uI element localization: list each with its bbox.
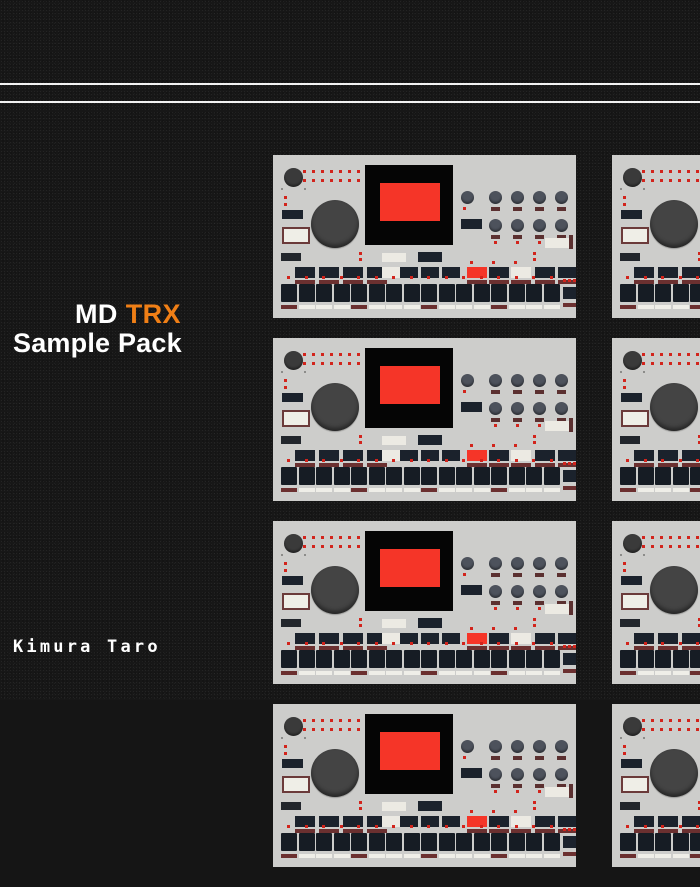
knob-indicator-icon bbox=[535, 207, 544, 211]
pattern-led bbox=[339, 170, 342, 173]
step-button[interactable] bbox=[491, 284, 507, 302]
parameter-knob[interactable] bbox=[489, 219, 502, 232]
step-button[interactable] bbox=[620, 284, 636, 302]
step-button[interactable] bbox=[526, 833, 542, 851]
step-led bbox=[427, 276, 430, 279]
led-segment-display bbox=[281, 253, 301, 261]
function-button[interactable] bbox=[282, 576, 303, 585]
parameter-knob[interactable] bbox=[489, 402, 502, 415]
volume-knob[interactable] bbox=[623, 534, 642, 553]
step-button[interactable] bbox=[334, 650, 350, 668]
function-button[interactable] bbox=[421, 450, 439, 461]
function-button[interactable] bbox=[558, 633, 576, 644]
function-button[interactable] bbox=[563, 470, 576, 482]
lcd-screen bbox=[365, 531, 453, 611]
step-led bbox=[375, 459, 378, 462]
function-button[interactable] bbox=[563, 653, 576, 665]
pattern-led bbox=[642, 362, 645, 365]
function-button[interactable] bbox=[558, 450, 576, 461]
pattern-led bbox=[678, 719, 681, 722]
status-led bbox=[359, 258, 362, 261]
function-button[interactable] bbox=[558, 267, 576, 278]
step-button[interactable] bbox=[386, 284, 402, 302]
function-button[interactable] bbox=[421, 633, 439, 644]
step-button[interactable] bbox=[404, 467, 420, 485]
parameter-knob[interactable] bbox=[533, 740, 546, 753]
function-button[interactable] bbox=[467, 633, 487, 644]
step-label-strip bbox=[439, 854, 455, 858]
drum-machine bbox=[273, 521, 576, 684]
step-label-strip bbox=[439, 671, 455, 675]
step-label-strip bbox=[334, 854, 350, 858]
data-encoder-knob[interactable] bbox=[311, 749, 359, 797]
volume-knob[interactable] bbox=[284, 534, 303, 553]
parameter-knob[interactable] bbox=[511, 585, 524, 598]
step-button[interactable] bbox=[526, 467, 542, 485]
function-button[interactable] bbox=[418, 252, 442, 262]
step-button[interactable] bbox=[369, 833, 385, 851]
function-button[interactable] bbox=[382, 802, 406, 811]
step-button[interactable] bbox=[316, 650, 332, 668]
step-button[interactable] bbox=[544, 650, 560, 668]
pattern-led bbox=[357, 179, 360, 182]
function-button[interactable] bbox=[382, 619, 406, 628]
step-button[interactable] bbox=[404, 650, 420, 668]
step-button[interactable] bbox=[690, 467, 700, 485]
step-button[interactable] bbox=[439, 467, 455, 485]
step-button[interactable] bbox=[544, 833, 560, 851]
function-button[interactable] bbox=[545, 421, 569, 431]
lcd-active-area bbox=[380, 732, 440, 770]
step-label-strip bbox=[369, 488, 385, 492]
volume-knob[interactable] bbox=[284, 168, 303, 187]
step-led bbox=[410, 459, 413, 462]
step-button[interactable] bbox=[673, 284, 689, 302]
step-led bbox=[375, 276, 378, 279]
step-led bbox=[644, 825, 647, 828]
step-button[interactable] bbox=[638, 284, 654, 302]
step-button[interactable] bbox=[690, 284, 700, 302]
function-button[interactable] bbox=[621, 576, 642, 585]
knob-indicator-icon bbox=[513, 601, 522, 605]
step-label-strip bbox=[526, 671, 542, 675]
pattern-led bbox=[303, 353, 306, 356]
step-button[interactable] bbox=[491, 467, 507, 485]
function-button[interactable] bbox=[461, 219, 482, 229]
parameter-knob[interactable] bbox=[533, 557, 546, 570]
function-button[interactable] bbox=[461, 768, 482, 778]
step-label-strip bbox=[316, 854, 332, 858]
volume-knob[interactable] bbox=[623, 351, 642, 370]
step-led bbox=[445, 825, 448, 828]
status-led bbox=[514, 810, 517, 813]
function-button[interactable] bbox=[343, 450, 363, 461]
step-led bbox=[445, 459, 448, 462]
data-encoder-knob[interactable] bbox=[311, 200, 359, 248]
step-led bbox=[626, 642, 629, 645]
parameter-knob[interactable] bbox=[489, 768, 502, 781]
status-led bbox=[623, 562, 626, 565]
status-led bbox=[284, 379, 287, 382]
pattern-led bbox=[651, 170, 654, 173]
status-led bbox=[563, 645, 566, 648]
step-button[interactable] bbox=[369, 650, 385, 668]
step-button[interactable] bbox=[509, 833, 525, 851]
step-button[interactable] bbox=[474, 833, 490, 851]
value-display bbox=[621, 410, 649, 427]
step-button[interactable] bbox=[421, 284, 437, 302]
parameter-knob[interactable] bbox=[511, 557, 524, 570]
step-button[interactable] bbox=[620, 833, 636, 851]
status-led bbox=[533, 801, 536, 804]
status-led bbox=[533, 618, 536, 621]
function-button[interactable] bbox=[343, 267, 363, 278]
value-display bbox=[282, 776, 310, 793]
parameter-knob[interactable] bbox=[533, 219, 546, 232]
status-led bbox=[494, 241, 497, 244]
step-button[interactable] bbox=[491, 650, 507, 668]
step-button[interactable] bbox=[638, 467, 654, 485]
step-button[interactable] bbox=[386, 833, 402, 851]
step-button[interactable] bbox=[456, 467, 472, 485]
pattern-led bbox=[303, 536, 306, 539]
step-button[interactable] bbox=[281, 650, 297, 668]
button-label-strip bbox=[563, 303, 576, 307]
step-button[interactable] bbox=[620, 467, 636, 485]
pattern-led bbox=[339, 179, 342, 182]
step-button[interactable] bbox=[655, 650, 671, 668]
volume-knob[interactable] bbox=[623, 717, 642, 736]
knob-tick-icon bbox=[304, 554, 306, 556]
function-button[interactable] bbox=[421, 267, 439, 278]
step-led bbox=[427, 459, 430, 462]
status-led bbox=[533, 624, 536, 627]
step-button[interactable] bbox=[456, 650, 472, 668]
slider-icon bbox=[569, 235, 573, 249]
function-button[interactable] bbox=[621, 393, 642, 402]
knob-tick-icon bbox=[281, 371, 283, 373]
volume-knob[interactable] bbox=[623, 168, 642, 187]
data-encoder-knob[interactable] bbox=[650, 200, 698, 248]
step-button[interactable] bbox=[316, 833, 332, 851]
step-led bbox=[392, 642, 395, 645]
step-button[interactable] bbox=[316, 467, 332, 485]
pattern-led bbox=[696, 719, 699, 722]
step-button[interactable] bbox=[421, 650, 437, 668]
data-encoder-knob[interactable] bbox=[650, 566, 698, 614]
step-button[interactable] bbox=[638, 833, 654, 851]
function-button[interactable] bbox=[282, 393, 303, 402]
knob-indicator-icon bbox=[535, 418, 544, 422]
function-button[interactable] bbox=[563, 836, 576, 848]
function-button[interactable] bbox=[343, 633, 363, 644]
step-button[interactable] bbox=[299, 284, 315, 302]
step-button[interactable] bbox=[386, 467, 402, 485]
step-led bbox=[626, 459, 629, 462]
parameter-knob[interactable] bbox=[533, 374, 546, 387]
parameter-knob[interactable] bbox=[555, 768, 568, 781]
parameter-knob[interactable] bbox=[511, 768, 524, 781]
parameter-knob[interactable] bbox=[489, 191, 502, 204]
pattern-led bbox=[669, 179, 672, 182]
parameter-knob[interactable] bbox=[533, 585, 546, 598]
pattern-led bbox=[321, 179, 324, 182]
pattern-led bbox=[348, 353, 351, 356]
pattern-led bbox=[660, 362, 663, 365]
parameter-knob[interactable] bbox=[533, 768, 546, 781]
step-label-strip bbox=[638, 305, 654, 309]
step-button[interactable] bbox=[474, 467, 490, 485]
pattern-led-grid bbox=[642, 170, 700, 186]
step-button[interactable] bbox=[299, 833, 315, 851]
parameter-knob[interactable] bbox=[555, 374, 568, 387]
step-label-strip bbox=[421, 854, 437, 858]
step-label-strip bbox=[526, 854, 542, 858]
pattern-led bbox=[696, 728, 699, 731]
parameter-knob[interactable] bbox=[555, 219, 568, 232]
function-button[interactable] bbox=[467, 267, 487, 278]
step-button[interactable] bbox=[439, 650, 455, 668]
drum-machine bbox=[612, 521, 700, 684]
step-button[interactable] bbox=[351, 833, 367, 851]
status-led bbox=[359, 441, 362, 444]
status-led bbox=[492, 810, 495, 813]
parameter-knob[interactable] bbox=[511, 191, 524, 204]
step-button[interactable] bbox=[544, 467, 560, 485]
drum-machine bbox=[612, 155, 700, 318]
step-label-strip bbox=[316, 305, 332, 309]
title-trx: TRX bbox=[126, 299, 181, 329]
status-led bbox=[568, 462, 571, 465]
status-led bbox=[623, 386, 626, 389]
function-button[interactable] bbox=[467, 450, 487, 461]
status-led bbox=[492, 627, 495, 630]
step-label-strip bbox=[690, 854, 700, 858]
step-button[interactable] bbox=[421, 467, 437, 485]
page-title: MD TRX bbox=[12, 300, 262, 329]
function-button[interactable] bbox=[421, 816, 439, 827]
pattern-led bbox=[696, 170, 699, 173]
knob-indicator-icon bbox=[557, 573, 566, 577]
parameter-knob[interactable] bbox=[461, 191, 474, 204]
step-led bbox=[480, 825, 483, 828]
parameter-knob[interactable] bbox=[489, 585, 502, 598]
step-led bbox=[357, 642, 360, 645]
step-button[interactable] bbox=[369, 467, 385, 485]
function-button[interactable] bbox=[282, 759, 303, 768]
status-led bbox=[533, 435, 536, 438]
step-label-strip bbox=[620, 488, 636, 492]
function-button[interactable] bbox=[461, 585, 482, 595]
step-led bbox=[515, 825, 518, 828]
step-led bbox=[626, 825, 629, 828]
step-led bbox=[515, 276, 518, 279]
step-button[interactable] bbox=[456, 284, 472, 302]
function-button[interactable] bbox=[382, 253, 406, 262]
status-led bbox=[470, 444, 473, 447]
step-button[interactable] bbox=[509, 650, 525, 668]
pattern-led-grid bbox=[642, 536, 700, 552]
parameter-knob[interactable] bbox=[533, 402, 546, 415]
parameter-knob[interactable] bbox=[461, 740, 474, 753]
pattern-led bbox=[669, 728, 672, 731]
parameter-knob[interactable] bbox=[489, 557, 502, 570]
step-led bbox=[679, 459, 682, 462]
step-button[interactable] bbox=[655, 833, 671, 851]
step-button[interactable] bbox=[655, 284, 671, 302]
function-button[interactable] bbox=[343, 816, 363, 827]
function-button[interactable] bbox=[621, 759, 642, 768]
step-button[interactable] bbox=[369, 284, 385, 302]
step-button[interactable] bbox=[526, 284, 542, 302]
parameter-knob[interactable] bbox=[555, 402, 568, 415]
volume-knob[interactable] bbox=[284, 717, 303, 736]
step-button[interactable] bbox=[281, 284, 297, 302]
function-button[interactable] bbox=[563, 287, 576, 299]
knob-tick-icon bbox=[281, 737, 283, 739]
parameter-knob[interactable] bbox=[489, 740, 502, 753]
parameter-knob[interactable] bbox=[555, 191, 568, 204]
function-button[interactable] bbox=[545, 787, 569, 797]
step-button[interactable] bbox=[421, 833, 437, 851]
step-button[interactable] bbox=[491, 833, 507, 851]
step-led bbox=[532, 825, 535, 828]
step-button[interactable] bbox=[509, 467, 525, 485]
parameter-knob[interactable] bbox=[511, 740, 524, 753]
step-button[interactable] bbox=[281, 467, 297, 485]
step-label-strip bbox=[474, 854, 490, 858]
artist-name: Kimura Taro bbox=[13, 637, 161, 657]
status-led bbox=[359, 801, 362, 804]
step-button[interactable] bbox=[404, 833, 420, 851]
step-button[interactable] bbox=[673, 467, 689, 485]
step-led bbox=[287, 459, 290, 462]
parameter-knob[interactable] bbox=[555, 740, 568, 753]
pattern-led bbox=[696, 179, 699, 182]
status-led bbox=[538, 790, 541, 793]
step-led bbox=[679, 825, 682, 828]
step-button[interactable] bbox=[334, 833, 350, 851]
pattern-led bbox=[357, 353, 360, 356]
function-button[interactable] bbox=[545, 238, 569, 248]
step-button[interactable] bbox=[690, 833, 700, 851]
data-encoder-knob[interactable] bbox=[650, 749, 698, 797]
data-encoder-knob[interactable] bbox=[650, 383, 698, 431]
knob-indicator-icon bbox=[535, 784, 544, 788]
step-button[interactable] bbox=[386, 650, 402, 668]
step-button[interactable] bbox=[404, 284, 420, 302]
step-led bbox=[322, 459, 325, 462]
step-button[interactable] bbox=[620, 650, 636, 668]
function-button[interactable] bbox=[467, 816, 487, 827]
step-button[interactable] bbox=[526, 650, 542, 668]
function-button[interactable] bbox=[558, 816, 576, 827]
step-led bbox=[661, 642, 664, 645]
knob-indicator-icon bbox=[513, 235, 522, 239]
knob-indicator-icon bbox=[491, 601, 500, 605]
step-button[interactable] bbox=[474, 650, 490, 668]
step-button[interactable] bbox=[655, 467, 671, 485]
function-button[interactable] bbox=[418, 618, 442, 628]
step-button[interactable] bbox=[299, 650, 315, 668]
step-label-strip bbox=[673, 488, 689, 492]
drum-machine bbox=[612, 338, 700, 501]
step-button[interactable] bbox=[351, 650, 367, 668]
step-button[interactable] bbox=[456, 833, 472, 851]
step-button[interactable] bbox=[281, 833, 297, 851]
function-button[interactable] bbox=[418, 435, 442, 445]
step-button[interactable] bbox=[690, 650, 700, 668]
volume-knob[interactable] bbox=[284, 351, 303, 370]
step-button[interactable] bbox=[509, 284, 525, 302]
page-subtitle: Sample Pack bbox=[12, 329, 262, 358]
function-button[interactable] bbox=[621, 210, 642, 219]
step-label-strip bbox=[299, 488, 315, 492]
step-button[interactable] bbox=[439, 833, 455, 851]
step-button[interactable] bbox=[439, 284, 455, 302]
parameter-knob[interactable] bbox=[511, 374, 524, 387]
step-button[interactable] bbox=[351, 284, 367, 302]
parameter-knob[interactable] bbox=[555, 557, 568, 570]
function-button[interactable] bbox=[282, 210, 303, 219]
step-led bbox=[305, 825, 308, 828]
lcd-screen bbox=[365, 348, 453, 428]
step-button[interactable] bbox=[299, 467, 315, 485]
parameter-knob[interactable] bbox=[461, 374, 474, 387]
slider-icon bbox=[569, 418, 573, 432]
step-button[interactable] bbox=[673, 833, 689, 851]
status-led bbox=[284, 569, 287, 572]
step-label-strip bbox=[421, 305, 437, 309]
function-button[interactable] bbox=[418, 801, 442, 811]
step-label-strip bbox=[334, 305, 350, 309]
step-button[interactable] bbox=[544, 284, 560, 302]
step-button[interactable] bbox=[673, 650, 689, 668]
status-led bbox=[494, 790, 497, 793]
step-led bbox=[462, 459, 465, 462]
knob-tick-icon bbox=[304, 371, 306, 373]
function-button[interactable] bbox=[545, 604, 569, 614]
step-led bbox=[305, 642, 308, 645]
step-label-strip bbox=[509, 305, 525, 309]
parameter-knob[interactable] bbox=[533, 191, 546, 204]
value-display bbox=[621, 227, 649, 244]
step-button[interactable] bbox=[334, 467, 350, 485]
pattern-led bbox=[669, 170, 672, 173]
function-button[interactable] bbox=[382, 436, 406, 445]
step-label-strip bbox=[281, 854, 297, 858]
step-button[interactable] bbox=[334, 284, 350, 302]
step-button[interactable] bbox=[316, 284, 332, 302]
data-encoder-knob[interactable] bbox=[311, 383, 359, 431]
step-button[interactable] bbox=[351, 467, 367, 485]
status-led bbox=[573, 645, 576, 648]
parameter-knob[interactable] bbox=[511, 402, 524, 415]
parameter-knob[interactable] bbox=[555, 585, 568, 598]
pattern-led bbox=[678, 545, 681, 548]
pattern-led bbox=[303, 362, 306, 365]
step-label-strip bbox=[474, 305, 490, 309]
step-button[interactable] bbox=[638, 650, 654, 668]
parameter-knob[interactable] bbox=[489, 374, 502, 387]
step-button[interactable] bbox=[474, 284, 490, 302]
data-encoder-knob[interactable] bbox=[311, 566, 359, 614]
step-led bbox=[679, 642, 682, 645]
function-button[interactable] bbox=[461, 402, 482, 412]
pattern-led bbox=[348, 536, 351, 539]
parameter-knob[interactable] bbox=[511, 219, 524, 232]
parameter-knob[interactable] bbox=[461, 557, 474, 570]
